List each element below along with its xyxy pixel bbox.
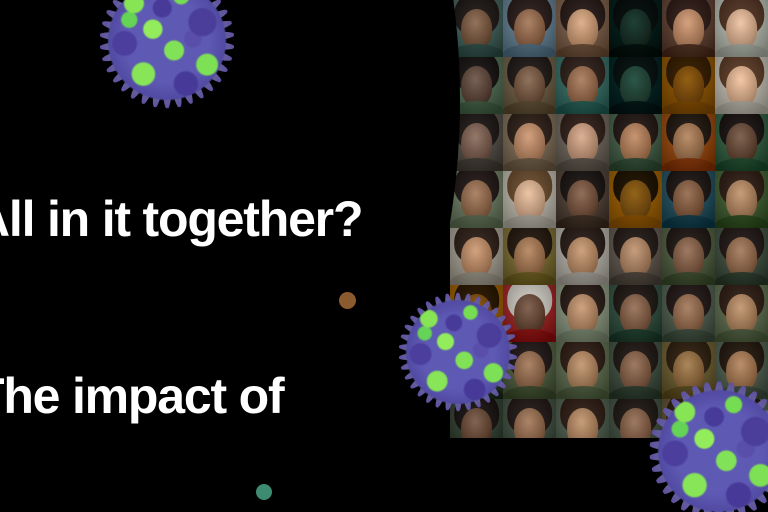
mosaic-tile <box>662 285 715 342</box>
mosaic-tile-shading <box>715 57 768 114</box>
mosaic-tile <box>556 57 609 114</box>
headline-line-1: All in it together? <box>0 190 494 249</box>
mosaic-tile-color-tint <box>662 57 715 114</box>
mosaic-tile <box>662 228 715 285</box>
mosaic-tile-shading <box>715 285 768 342</box>
mosaic-tile <box>715 0 768 57</box>
mosaic-tile <box>556 171 609 228</box>
mosaic-tile-shading <box>556 171 609 228</box>
mosaic-tile-shading <box>662 0 715 57</box>
mosaic-tile-shading <box>662 114 715 171</box>
mosaic-tile-shading <box>662 285 715 342</box>
mosaic-tile-shading <box>503 0 556 57</box>
mosaic-tile <box>450 0 503 57</box>
mosaic-tile <box>662 171 715 228</box>
mosaic-tile <box>609 0 662 57</box>
mosaic-tile-shading <box>609 285 662 342</box>
mosaic-tile <box>503 171 556 228</box>
mosaic-tile <box>503 0 556 57</box>
mosaic-tile <box>503 114 556 171</box>
mosaic-tile <box>503 228 556 285</box>
mosaic-tile <box>556 285 609 342</box>
mosaic-tile-shading <box>609 342 662 399</box>
mosaic-tile-shading <box>450 0 503 57</box>
mosaic-tile <box>556 114 609 171</box>
mosaic-tile <box>662 57 715 114</box>
mosaic-tile-shading <box>503 114 556 171</box>
poster-canvas: All in it together? The impact of corona… <box>0 0 768 512</box>
mosaic-tile <box>556 342 609 399</box>
teal-accent-dot <box>256 484 272 500</box>
mosaic-tile-shading <box>715 171 768 228</box>
mosaic-tile-shading <box>556 0 609 57</box>
mosaic-tile-shading <box>556 114 609 171</box>
mosaic-tile <box>715 114 768 171</box>
mosaic-tile-shading <box>715 228 768 285</box>
mosaic-tile-shading <box>662 171 715 228</box>
mosaic-tile <box>609 171 662 228</box>
mosaic-tile-color-tint <box>609 0 662 57</box>
coronavirus-particle-icon <box>658 390 768 512</box>
mosaic-tile-shading <box>556 342 609 399</box>
mosaic-tile <box>715 171 768 228</box>
mosaic-tile <box>662 0 715 57</box>
mosaic-tile <box>503 57 556 114</box>
coronavirus-particle-icon <box>108 0 226 100</box>
mosaic-tile-color-tint <box>609 57 662 114</box>
mosaic-tile-shading <box>609 114 662 171</box>
brown-accent-dot <box>339 292 356 309</box>
mosaic-tile-shading <box>715 114 768 171</box>
mosaic-tile <box>556 0 609 57</box>
mosaic-tile-shading <box>503 57 556 114</box>
mosaic-tile-shading <box>715 0 768 57</box>
mosaic-tile-shading <box>662 228 715 285</box>
mosaic-tile-color-tint <box>609 171 662 228</box>
mosaic-tile-shading <box>503 171 556 228</box>
mosaic-tile <box>609 342 662 399</box>
mosaic-tile-shading <box>556 228 609 285</box>
mosaic-tile <box>662 114 715 171</box>
mosaic-tile <box>609 285 662 342</box>
mosaic-tile-shading <box>503 228 556 285</box>
mosaic-tile-shading <box>556 285 609 342</box>
mosaic-tile-shading <box>609 228 662 285</box>
mosaic-tile <box>715 228 768 285</box>
mosaic-tile <box>609 57 662 114</box>
mosaic-tile-shading <box>556 57 609 114</box>
page-title: All in it together? The impact of corona… <box>0 72 494 512</box>
virus-core <box>406 300 510 404</box>
virus-core <box>658 390 768 512</box>
mosaic-tile <box>715 57 768 114</box>
mosaic-tile <box>715 285 768 342</box>
mosaic-tile <box>556 228 609 285</box>
mosaic-tile <box>609 114 662 171</box>
coronavirus-particle-icon <box>406 300 510 404</box>
mosaic-tile <box>609 228 662 285</box>
